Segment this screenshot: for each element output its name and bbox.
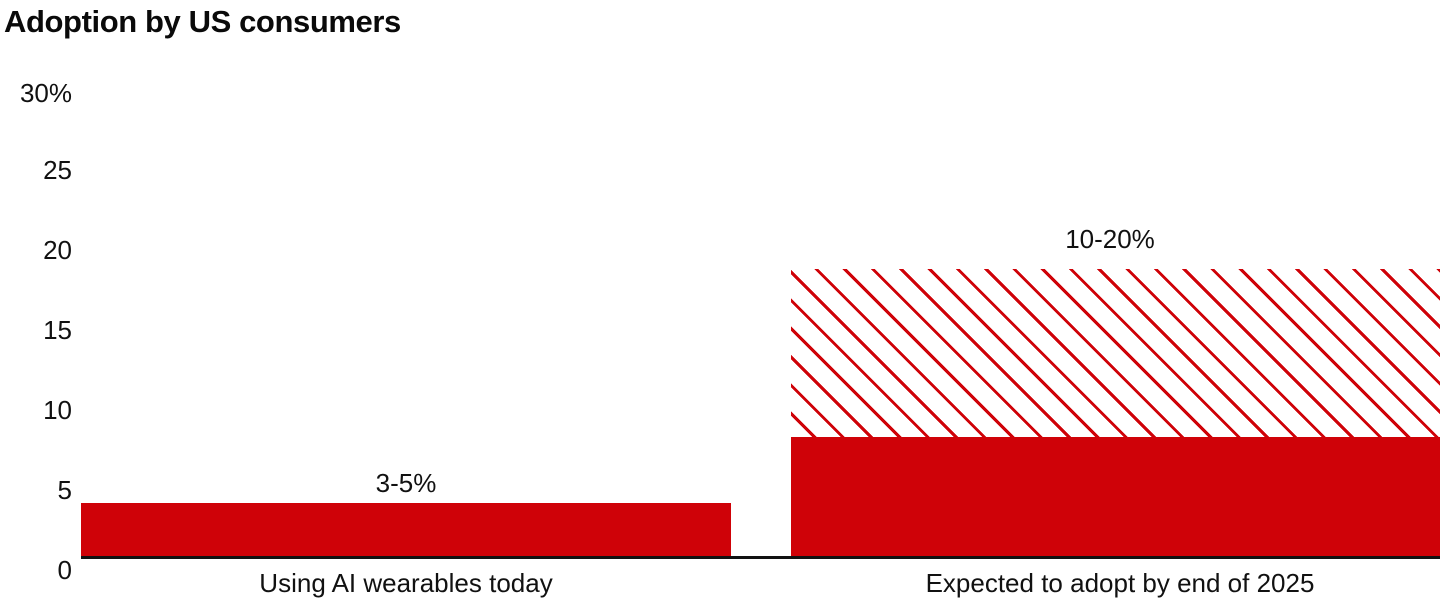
y-axis-tick-15: 15: [0, 317, 72, 343]
y-axis-tick-0: 0: [0, 557, 72, 583]
y-axis-tick-30: 30%: [0, 80, 72, 106]
chart-title: Adoption by US consumers: [4, 2, 401, 42]
value-label-bar2: 10-20%: [1065, 226, 1155, 252]
y-axis-tick-25: 25: [0, 157, 72, 183]
x-axis-category-label-2: Expected to adopt by end of 2025: [926, 567, 1315, 599]
value-label-bar1: 3-5%: [376, 470, 437, 496]
plot-area: [81, 70, 1440, 557]
bar-expected-adopt-2025-solid[interactable]: [791, 437, 1440, 557]
x-axis-baseline: [81, 556, 1440, 559]
x-axis-category-label-1: Using AI wearables today: [259, 567, 552, 599]
y-axis-tick-10: 10: [0, 397, 72, 423]
y-axis-tick-20: 20: [0, 237, 72, 263]
chart-container: Adoption by US consumers 30% 25 20 15 10…: [0, 0, 1440, 608]
bar-using-ai-wearables-today-solid[interactable]: [81, 503, 731, 557]
y-axis-tick-5: 5: [0, 477, 72, 503]
y-axis: 30% 25 20 15 10 5 0: [0, 70, 72, 560]
